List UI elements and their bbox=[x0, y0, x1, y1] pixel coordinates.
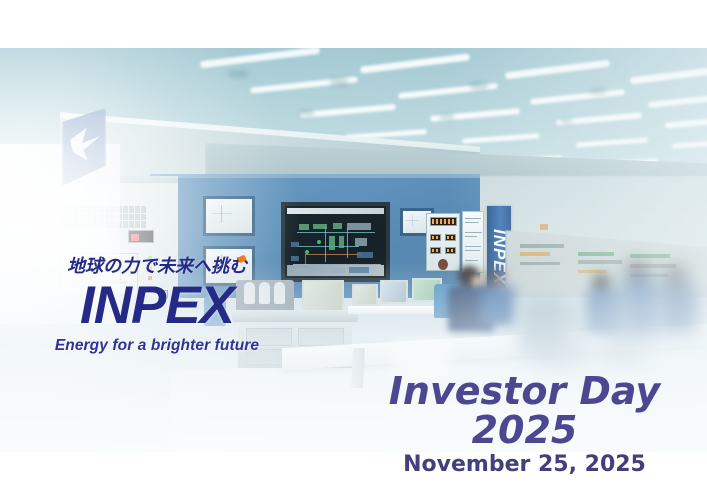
scada-line bbox=[293, 264, 381, 265]
scada-line bbox=[305, 254, 361, 255]
panel-instrument-row bbox=[520, 252, 550, 256]
scada-block bbox=[339, 236, 344, 248]
operator-monitor bbox=[302, 280, 344, 314]
scada-block bbox=[329, 236, 335, 250]
panel-instrument-row bbox=[630, 254, 670, 258]
event-title-block: Investor Day 2025 November 25, 2025 bbox=[352, 372, 697, 477]
ceiling-fixture bbox=[300, 110, 314, 116]
scada-node bbox=[305, 250, 309, 254]
inpex-logo-block: 地球の力で未来へ挑む INPEX Energy for a brighter f… bbox=[22, 258, 292, 355]
amber-display bbox=[430, 247, 441, 254]
scada-block bbox=[357, 252, 373, 258]
english-tagline: Energy for a brighter future bbox=[22, 337, 292, 355]
console-door bbox=[298, 328, 344, 346]
scada-block bbox=[291, 256, 299, 261]
scada-titlebar bbox=[287, 208, 384, 214]
ceiling-fixture bbox=[440, 114, 454, 120]
panel-instrument-row bbox=[520, 244, 564, 248]
desk-monitor bbox=[380, 280, 408, 304]
scada-screen bbox=[281, 202, 390, 282]
scada-block bbox=[355, 238, 367, 246]
foreground-equipment bbox=[536, 304, 590, 370]
led-indicator-panel bbox=[426, 213, 460, 271]
panel-instrument-row bbox=[578, 270, 606, 273]
scada-block bbox=[291, 242, 299, 247]
ceiling-fixture bbox=[228, 70, 248, 78]
scada-line bbox=[297, 232, 375, 233]
scada-block bbox=[333, 223, 342, 229]
scada-block bbox=[313, 224, 327, 229]
panel-instrument-row bbox=[578, 260, 622, 264]
japanese-tagline: 地球の力で未来へ挑む bbox=[22, 258, 292, 276]
scada-line bbox=[297, 246, 359, 247]
event-title: Investor Day 2025 bbox=[352, 372, 697, 450]
ceiling-fixture bbox=[590, 88, 606, 95]
scada-line bbox=[347, 228, 348, 258]
panel-instrument-row bbox=[578, 252, 614, 256]
scada-block bbox=[299, 224, 309, 230]
amber-display bbox=[430, 234, 441, 241]
foreground-equipment bbox=[600, 296, 648, 368]
scada-block bbox=[349, 267, 369, 273]
alarm-display bbox=[128, 230, 154, 243]
ceiling-fixture bbox=[560, 118, 573, 124]
amber-display bbox=[445, 234, 456, 241]
panel-indicator bbox=[540, 224, 548, 230]
panel-instrument-row bbox=[520, 262, 560, 265]
scada-block bbox=[313, 268, 327, 273]
ceiling-fixture bbox=[470, 82, 488, 90]
inpex-wordmark: INPEX bbox=[22, 280, 292, 332]
ceiling-fixture bbox=[330, 78, 348, 86]
scada-block bbox=[295, 268, 309, 273]
event-date: November 25, 2025 bbox=[352, 452, 697, 477]
amber-display bbox=[430, 217, 457, 226]
scada-block bbox=[347, 223, 371, 230]
desk-monitor bbox=[352, 284, 378, 306]
presentation-slide: INPEX bbox=[0, 0, 707, 500]
scada-line bbox=[325, 226, 326, 262]
emergency-button bbox=[438, 259, 448, 270]
scada-node bbox=[317, 240, 321, 244]
wall-monitor bbox=[203, 196, 255, 236]
wall-notice-board bbox=[462, 211, 484, 273]
japanese-tagline-text: 地球の力で未来へ挑む bbox=[67, 256, 247, 277]
amber-display bbox=[445, 247, 456, 254]
scada-block bbox=[331, 268, 345, 273]
